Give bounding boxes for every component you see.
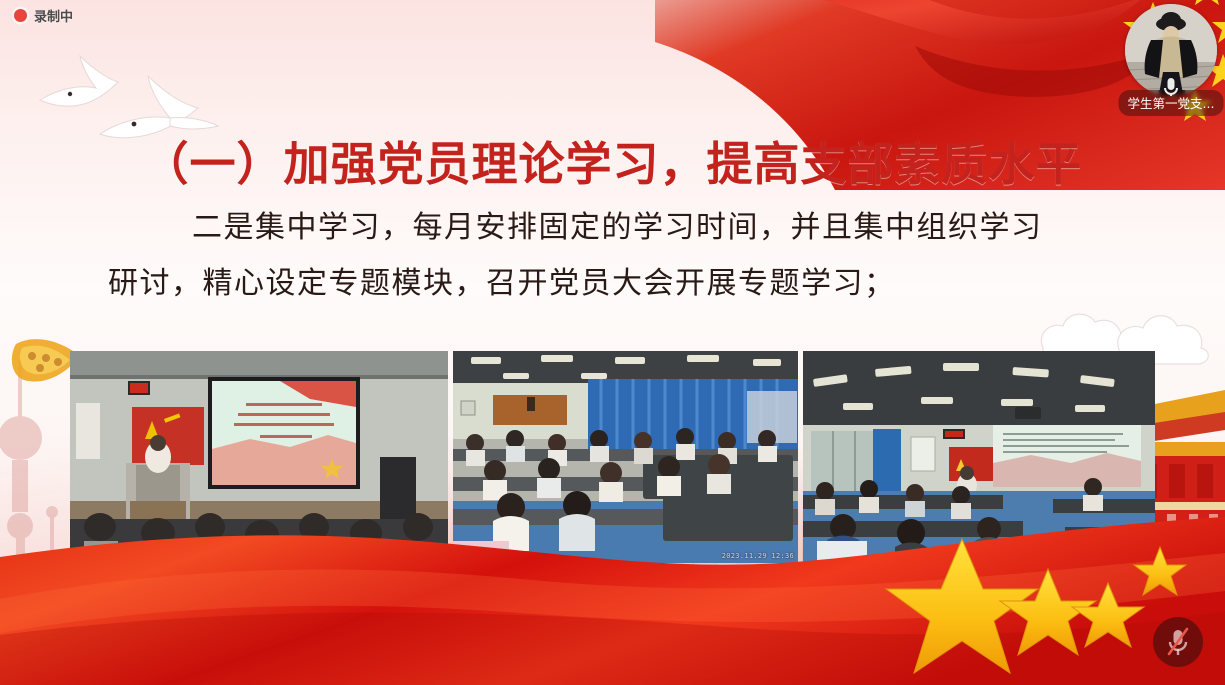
slide-photo-lecture-hall-presentation: 2023.11.29 12:34 bbox=[70, 351, 448, 563]
slide-photo-audience-seated-classroom: 2023.11.29 12:36 bbox=[453, 351, 798, 563]
slide-photo-strip: 2023.11.29 12:34 bbox=[70, 351, 1155, 563]
photo-timestamp: 2023.11.29 12:34 bbox=[372, 552, 444, 560]
photo-timestamp: 2023.11.29 12:36 bbox=[722, 552, 794, 560]
recording-indicator: 录制中 bbox=[14, 6, 73, 25]
microphone-icon bbox=[1161, 76, 1181, 96]
slide-body-line-2: 研讨，精心设定专题模块，召开党员大会开展专题学习； bbox=[108, 256, 1177, 312]
microphone-muted-icon bbox=[1165, 627, 1191, 657]
recording-label: 录制中 bbox=[34, 6, 73, 25]
meeting-screen-share-stage: （一）加强党员理论学习，提高支部素质水平 二是集中学习，每月安排固定的学习时间，… bbox=[0, 0, 1225, 685]
slide-photo-classroom-projector-session bbox=[803, 351, 1155, 563]
recording-dot-icon bbox=[14, 9, 27, 22]
slide-title: （一）加强党员理论学习，提高支部素质水平 bbox=[0, 128, 1225, 194]
avatar bbox=[1125, 4, 1217, 96]
slide-body: 二是集中学习，每月安排固定的学习时间，并且集中组织学习 研讨，精心设定专题模块，… bbox=[108, 200, 1177, 312]
mute-toggle-button[interactable] bbox=[1153, 617, 1203, 667]
self-video-tile[interactable]: 学生第一党支... bbox=[1125, 4, 1217, 96]
slide-body-line-1: 二是集中学习，每月安排固定的学习时间，并且集中组织学习 bbox=[108, 200, 1177, 256]
